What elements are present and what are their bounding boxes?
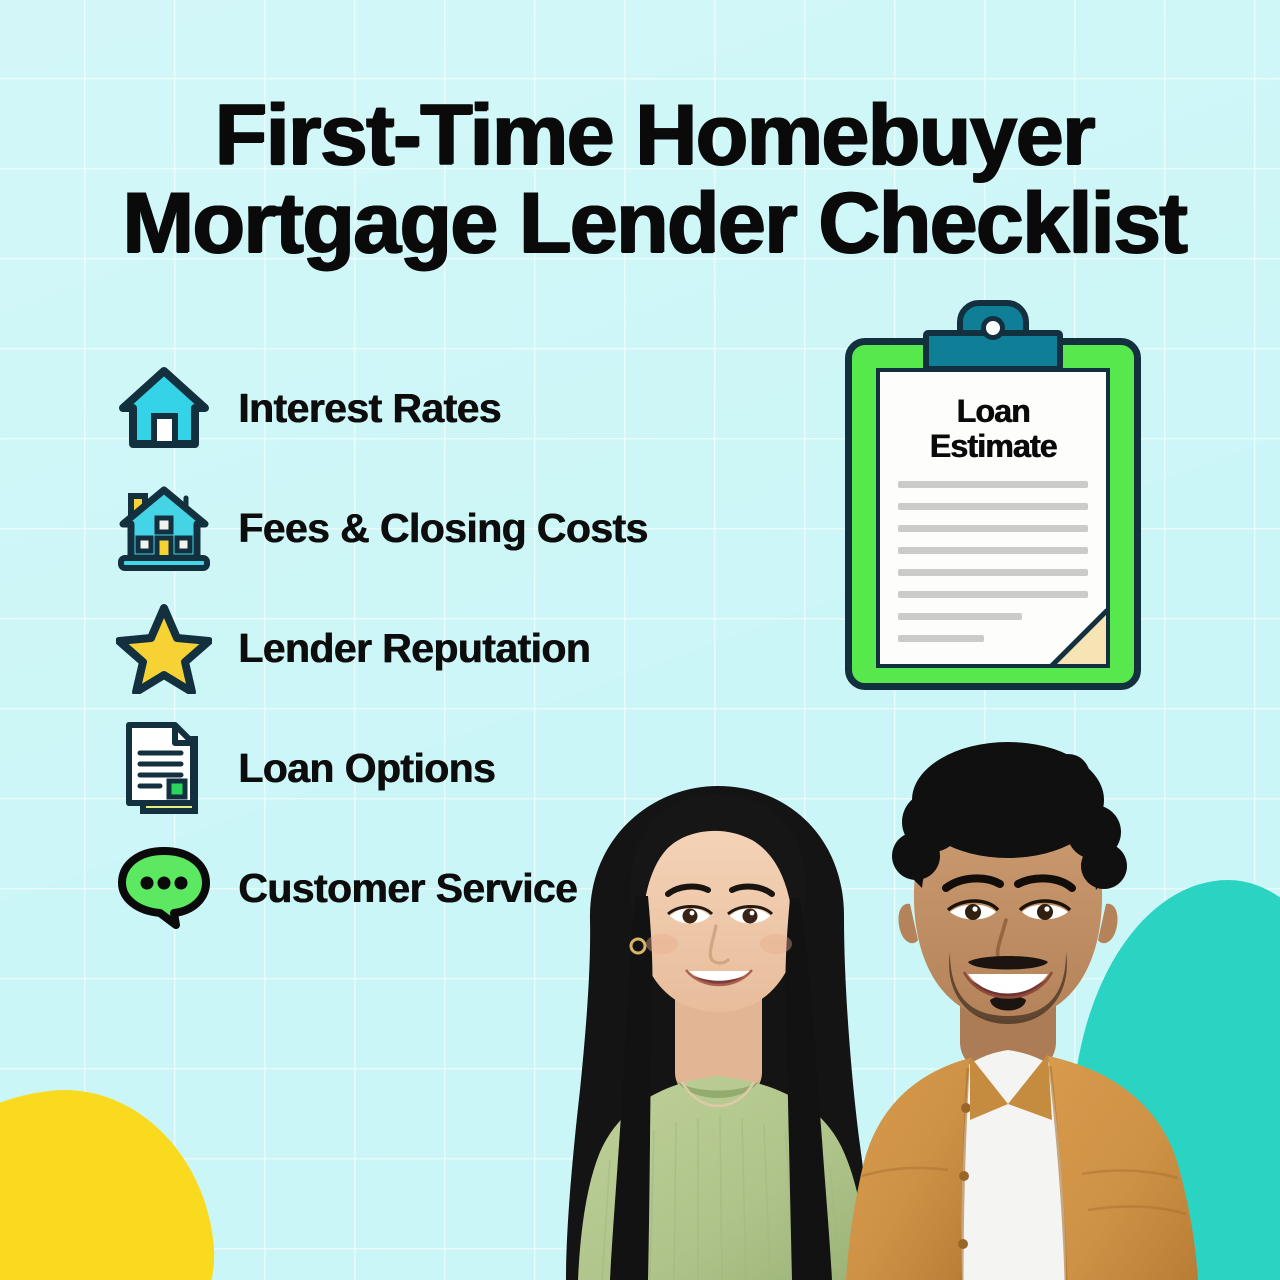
- clipboard-paper: Loan Estimate: [876, 368, 1110, 668]
- clipboard-text-line: [898, 481, 1088, 488]
- list-item-label: Fees & Closing Costs: [238, 505, 647, 552]
- house-icon: [112, 358, 216, 458]
- list-item-label: Interest Rates: [238, 385, 501, 432]
- star-icon: [112, 598, 216, 698]
- clipboard-text-line: [898, 503, 1088, 510]
- clipboard-text-line: [898, 613, 1022, 620]
- page-title-line-2: Mortgage Lender Checklist: [104, 180, 1204, 268]
- clipboard-text-line: [898, 591, 1088, 598]
- document-icon: [112, 718, 216, 818]
- clipboard-document-title: Loan Estimate: [894, 394, 1092, 463]
- list-item-label: Loan Options: [238, 745, 495, 792]
- clipboard-title-line-2: Estimate: [930, 428, 1057, 464]
- clipboard-clip-hole: [981, 316, 1005, 340]
- page-title-line-1: First-Time Homebuyer: [104, 92, 1204, 180]
- yellow-blob-decoration: [0, 1076, 226, 1280]
- house-detailed-icon: [112, 478, 216, 578]
- clipboard-title-line-1: Loan: [956, 393, 1029, 429]
- chat-bubble-icon: [112, 838, 216, 938]
- clipboard-text-line: [898, 569, 1088, 576]
- loan-estimate-clipboard: Loan Estimate: [845, 300, 1145, 700]
- clipboard-text-line: [898, 547, 1088, 554]
- clipboard-text-line: [898, 635, 984, 642]
- list-item-label: Lender Reputation: [238, 625, 590, 672]
- clipboard-text-line: [898, 525, 1088, 532]
- list-item[interactable]: Interest Rates: [112, 348, 752, 468]
- infographic-canvas: First-Time Homebuyer Mortgage Lender Che…: [0, 0, 1280, 1280]
- couple-photo: [470, 690, 1280, 1280]
- list-item[interactable]: Fees & Closing Costs: [112, 468, 752, 588]
- page-title: First-Time Homebuyer Mortgage Lender Che…: [104, 92, 1204, 267]
